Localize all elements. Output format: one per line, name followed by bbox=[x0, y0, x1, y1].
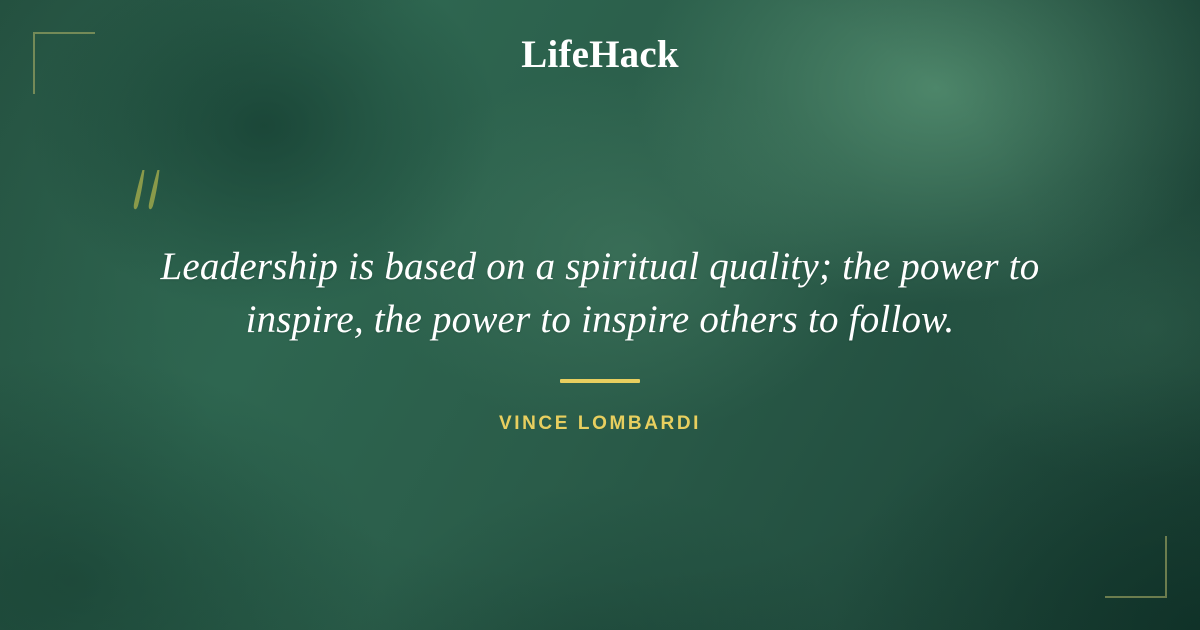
gold-divider bbox=[560, 379, 640, 383]
quote-line-2: inspire, the power to inspire others to … bbox=[100, 293, 1100, 346]
lifehack-logo: LifeHack bbox=[0, 34, 1200, 77]
quote-text-block: Leadership is based on a spiritual quali… bbox=[100, 240, 1100, 346]
corner-bracket-bottom-right-icon bbox=[1105, 536, 1167, 598]
quote-line-1: Leadership is based on a spiritual quali… bbox=[100, 240, 1100, 293]
quote-author: VINCE LOMBARDI bbox=[0, 413, 1200, 435]
double-quote-icon bbox=[132, 168, 178, 218]
quote-card: LifeHack Leadership is based on a spirit… bbox=[0, 0, 1200, 630]
